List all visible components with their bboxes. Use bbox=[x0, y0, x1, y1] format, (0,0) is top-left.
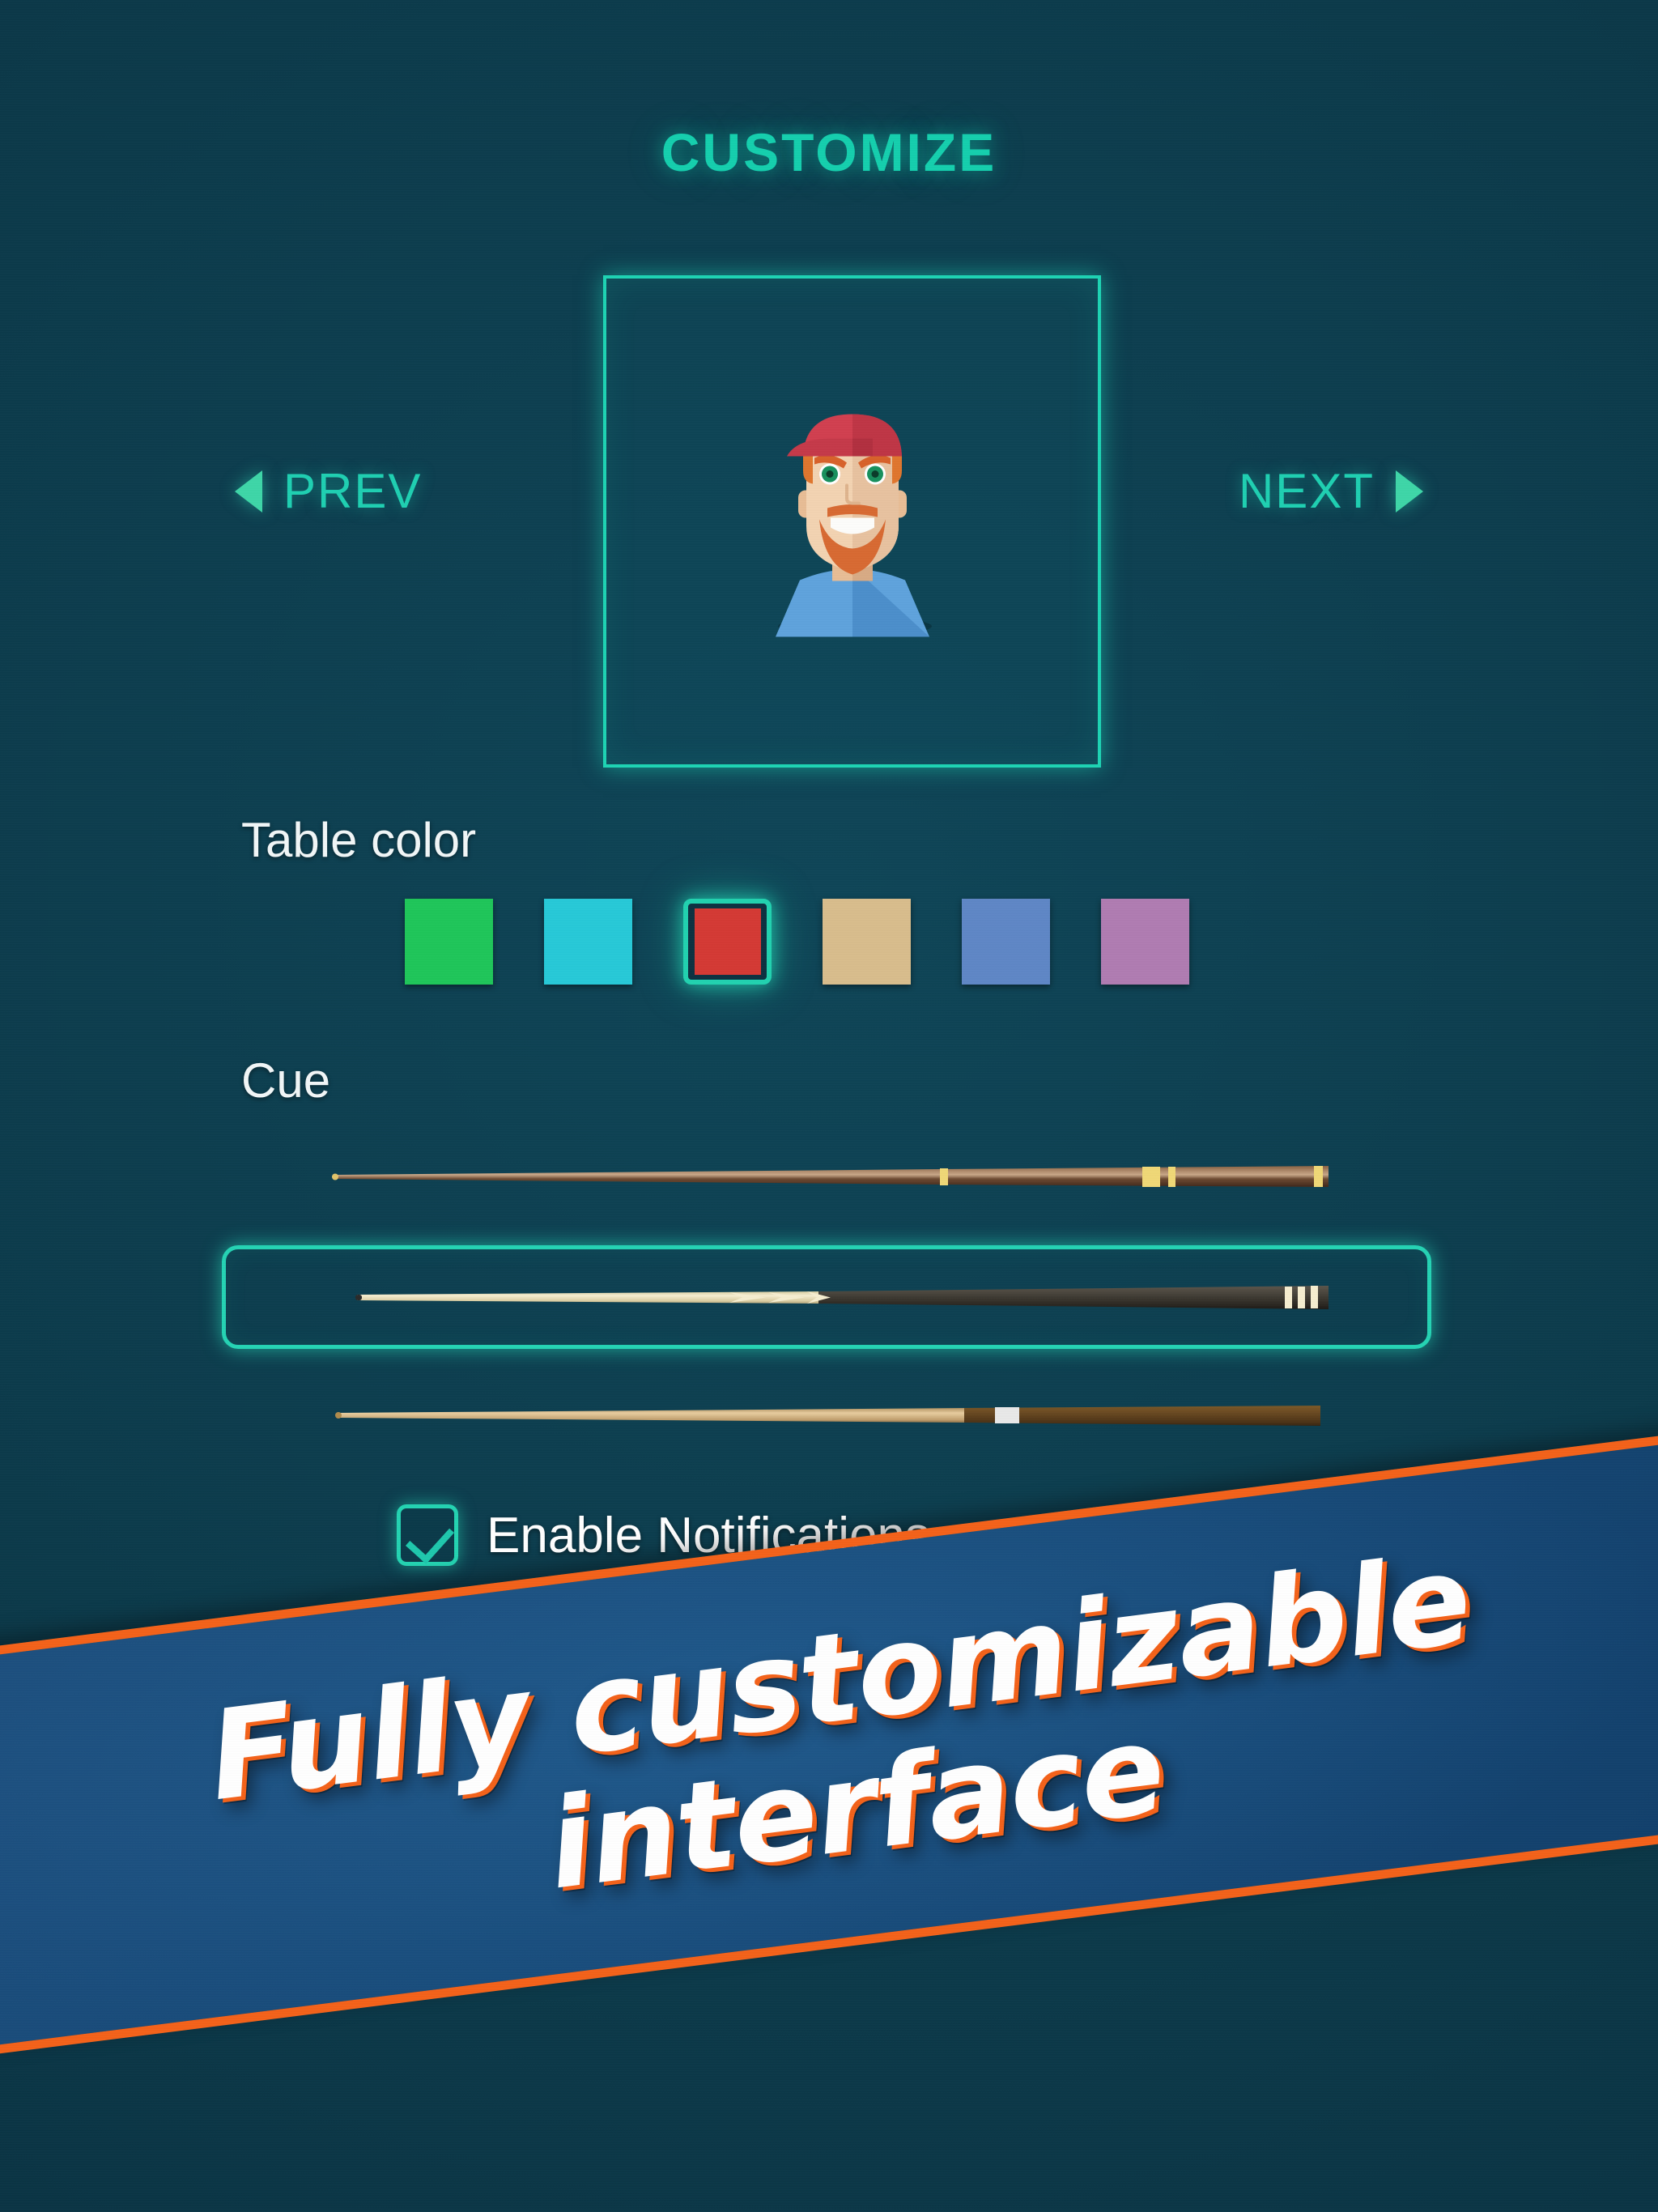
ivory-chevron-cue-icon bbox=[325, 1283, 1329, 1311]
swatch-purple[interactable] bbox=[1101, 899, 1189, 985]
table-color-swatch-row bbox=[405, 899, 1189, 985]
avatar-selector: PREV bbox=[0, 275, 1658, 771]
avatar-preview-frame[interactable] bbox=[603, 275, 1101, 768]
swatch-cyan[interactable] bbox=[544, 899, 632, 985]
maple-brown-cue-icon bbox=[325, 1402, 1329, 1429]
swatch-tan-fill bbox=[823, 899, 911, 985]
cue-option-maple-brown[interactable] bbox=[232, 1376, 1422, 1454]
swatch-green[interactable] bbox=[405, 899, 493, 985]
cue-option-dark-rosewood[interactable] bbox=[232, 1138, 1422, 1215]
triangle-left-icon bbox=[235, 470, 262, 513]
cue-label: Cue bbox=[241, 1053, 330, 1108]
swatch-red-fill bbox=[695, 908, 761, 975]
cue-option-ivory-chevron[interactable] bbox=[222, 1245, 1431, 1349]
swatch-blue-fill bbox=[962, 899, 1050, 985]
next-avatar-button[interactable]: NEXT bbox=[1239, 463, 1423, 519]
swatch-blue[interactable] bbox=[962, 899, 1050, 985]
swatch-purple-fill bbox=[1101, 899, 1189, 985]
dark-rosewood-cue-icon bbox=[325, 1163, 1329, 1190]
app-screen: CUSTOMIZE PREV bbox=[0, 0, 1658, 2212]
swatch-red[interactable] bbox=[683, 899, 772, 985]
table-color-label: Table color bbox=[241, 812, 476, 868]
man-with-red-cap-avatar bbox=[751, 406, 954, 637]
triangle-right-icon bbox=[1396, 470, 1423, 513]
swatch-cyan-fill bbox=[544, 899, 632, 985]
prev-avatar-label: PREV bbox=[283, 463, 422, 519]
page-title: CUSTOMIZE bbox=[0, 121, 1658, 183]
swatch-tan[interactable] bbox=[823, 899, 911, 985]
swatch-green-fill bbox=[405, 899, 493, 985]
checkmark-icon[interactable] bbox=[397, 1504, 458, 1566]
next-avatar-label: NEXT bbox=[1239, 463, 1375, 519]
prev-avatar-button[interactable]: PREV bbox=[235, 463, 422, 519]
